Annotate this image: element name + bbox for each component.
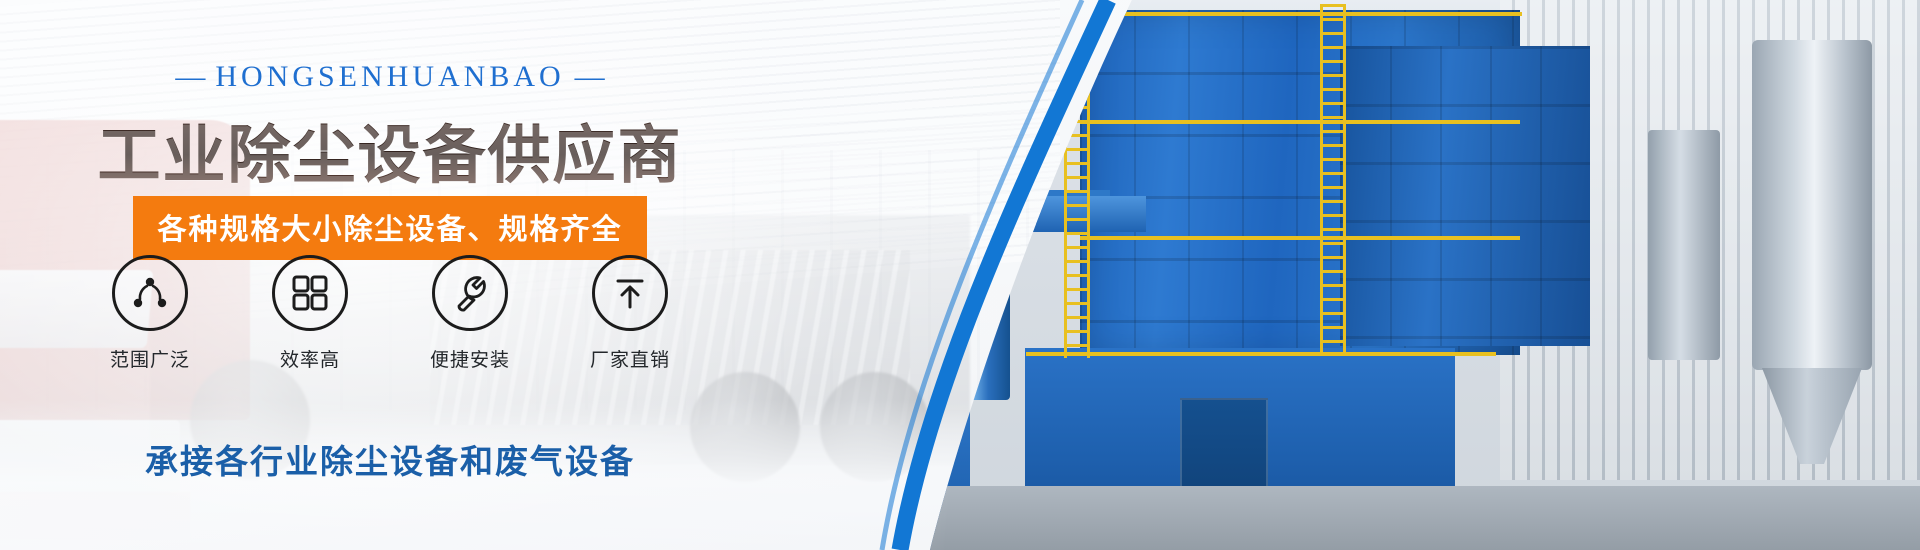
grid-squares-icon [290, 273, 330, 313]
feature-item-factory-direct[interactable]: 厂家直销 [576, 255, 684, 372]
feature-item-efficiency[interactable]: 效率高 [256, 255, 364, 372]
subtitle-orange-bar: 各种规格大小除尘设备、规格齐全 [133, 196, 646, 260]
feature-label: 便捷安装 [416, 345, 524, 372]
page-title: 工业除尘设备供应商 [0, 105, 780, 196]
orange-bar-wrap: 各种规格大小除尘设备、规格齐全 [0, 196, 780, 260]
banner-content: —HONGSENHUANBAO— 工业除尘设备供应商 各种规格大小除尘设备、规格… [0, 0, 820, 550]
feature-icon-circle [272, 255, 348, 331]
feature-label: 效率高 [256, 345, 364, 372]
eyebrow-dash-left: — [165, 60, 215, 93]
feature-label: 厂家直销 [576, 345, 684, 372]
eyebrow-text: HONGSENHUANBAO [215, 60, 564, 93]
eyebrow-dash-right: — [565, 60, 615, 93]
feature-icon-circle [432, 255, 508, 331]
feature-list: 范围广泛 效率高 [0, 255, 780, 372]
feature-label: 范围广泛 [96, 345, 204, 372]
share-nodes-icon [128, 271, 172, 315]
feature-icon-circle [112, 255, 188, 331]
promo-banner: —HONGSENHUANBAO— 工业除尘设备供应商 各种规格大小除尘设备、规格… [0, 0, 1920, 550]
banner-tagline: 承接各行业除尘设备和废气设备 [0, 435, 780, 483]
feature-icon-circle [592, 255, 668, 331]
feature-item-scope[interactable]: 范围广泛 [96, 255, 204, 372]
up-arrow-icon [610, 273, 650, 313]
feature-item-installation[interactable]: 便捷安装 [416, 255, 524, 372]
wrench-icon [449, 272, 491, 314]
brand-eyebrow: —HONGSENHUANBAO— [0, 60, 780, 94]
